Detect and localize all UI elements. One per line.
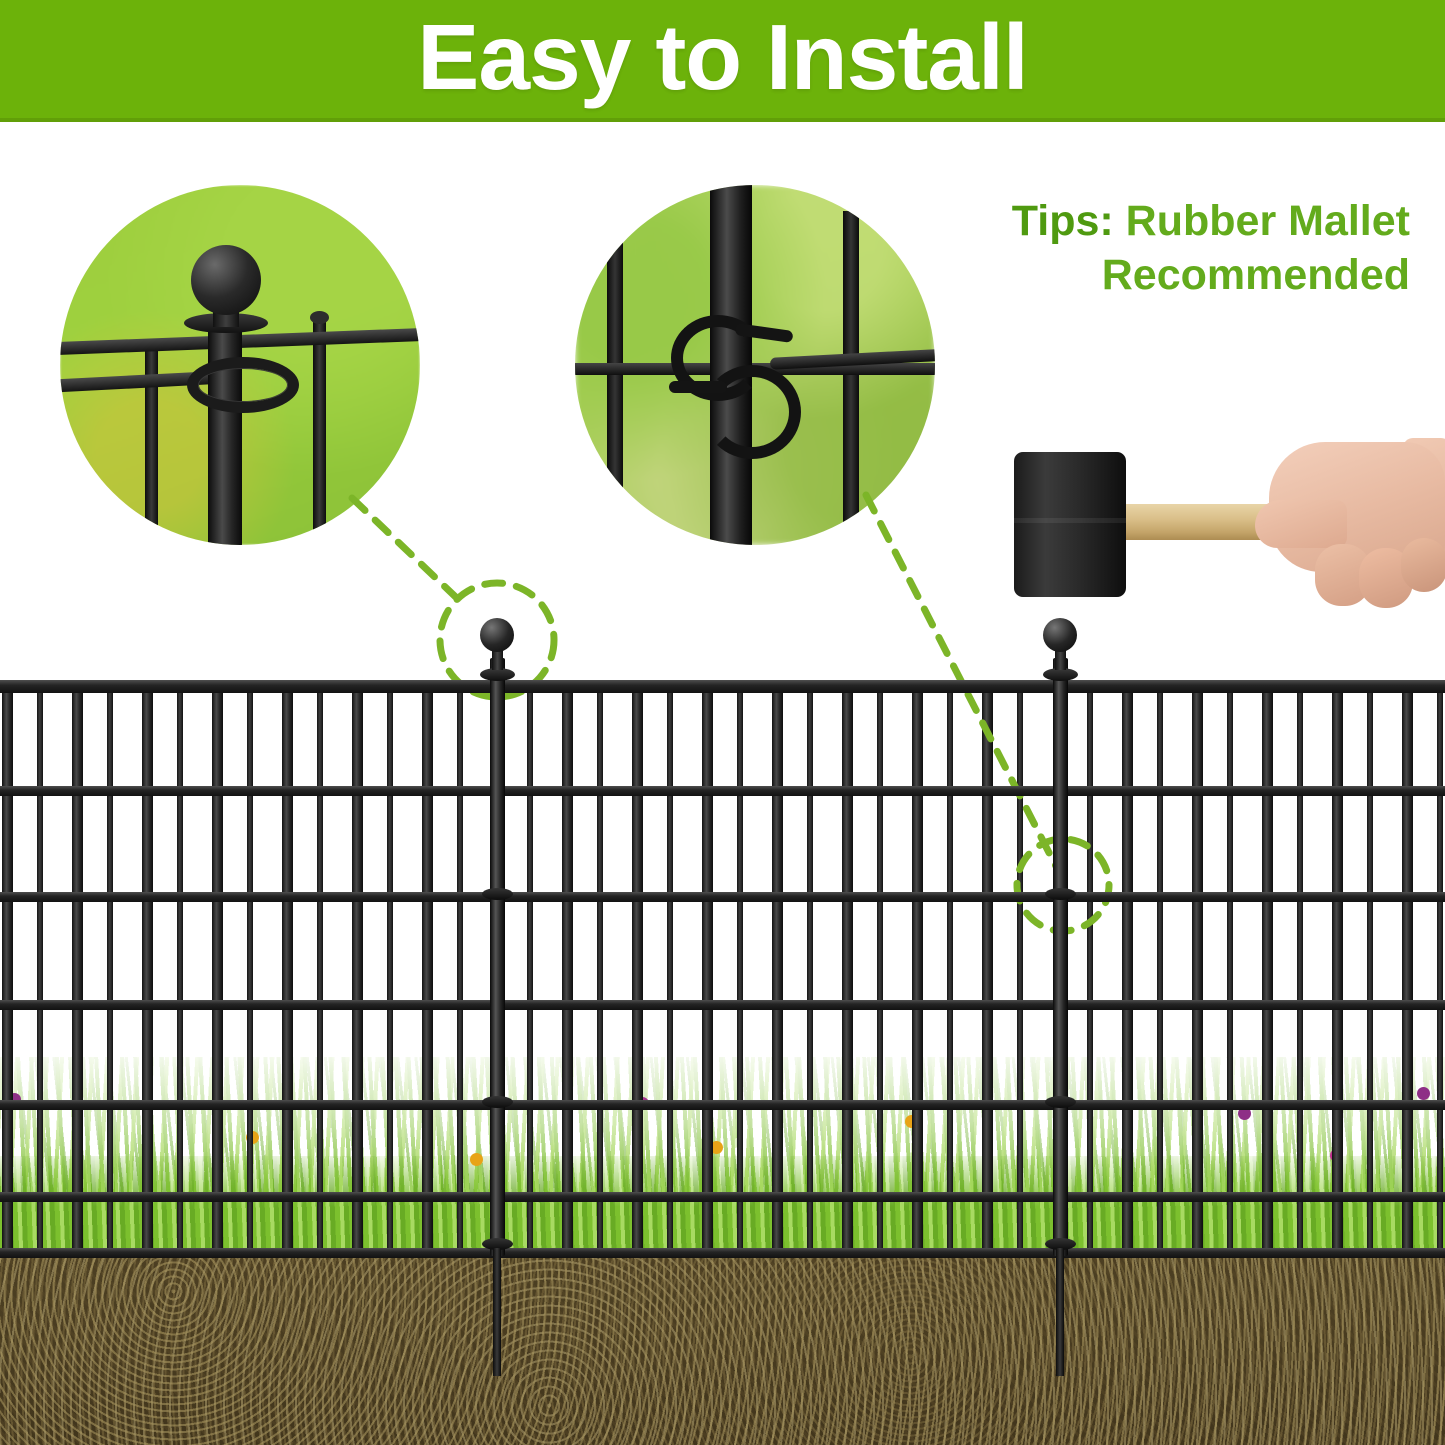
ground-stake — [493, 1248, 501, 1376]
fence-post — [490, 658, 505, 1256]
fence-vertical-bar — [982, 684, 993, 1250]
fence-vertical-bar — [527, 684, 533, 1250]
fence-vertical-bar — [457, 684, 463, 1250]
fence-vertical-bar — [317, 684, 323, 1250]
fence-vertical-bar — [282, 684, 293, 1250]
fence-vertical-bar — [107, 684, 113, 1250]
fence-vertical-bar — [387, 684, 393, 1250]
fence-rail — [0, 1100, 1445, 1110]
fence-vertical-bar — [842, 684, 853, 1250]
fence-rail — [0, 1192, 1445, 1202]
fence-rail — [0, 892, 1445, 902]
ground-stake — [1056, 1248, 1064, 1376]
fence-vertical-bar — [562, 684, 573, 1250]
fence-post — [1053, 658, 1068, 1256]
fence-vertical-bar — [142, 684, 153, 1250]
fence-vertical-bar — [352, 684, 363, 1250]
fence-vertical-bar — [1297, 684, 1303, 1250]
fence-vertical-bar — [877, 684, 883, 1250]
fence-vertical-bar — [772, 684, 783, 1250]
fence-vertical-bar — [597, 684, 603, 1250]
fence-vertical-bar — [1437, 684, 1443, 1250]
fence-vertical-bar — [807, 684, 813, 1250]
fence-vertical-bar — [1087, 684, 1093, 1250]
fence-vertical-bar — [1262, 684, 1273, 1250]
header-banner: Easy to Install — [0, 0, 1445, 122]
fence-vertical-bar — [72, 684, 83, 1250]
fence-rail — [0, 1248, 1445, 1258]
post-connector-clip — [1045, 1096, 1076, 1108]
fence-vertical-bar — [1332, 684, 1343, 1250]
fence-panel-scene — [0, 122, 1445, 1445]
fence-vertical-bar — [247, 684, 253, 1250]
fence-vertical-bar — [1157, 684, 1163, 1250]
fence-vertical-bar — [912, 684, 923, 1250]
fence-vertical-bar — [667, 684, 673, 1250]
wildflower — [1417, 1087, 1430, 1100]
fence-vertical-bar — [1227, 684, 1233, 1250]
soil-layer — [0, 1248, 1445, 1445]
content-stage: Tips: Rubber Mallet Recommended — [0, 122, 1445, 1445]
fence-rail — [0, 1000, 1445, 1010]
fence-rail — [0, 786, 1445, 796]
fence-vertical-bar — [1192, 684, 1203, 1250]
fence-vertical-bar — [37, 684, 43, 1250]
post-connector-clip — [1045, 888, 1076, 900]
fence-vertical-bar — [1402, 684, 1413, 1250]
page-title: Easy to Install — [0, 0, 1445, 118]
post-ball-finial — [1043, 618, 1077, 652]
fence-vertical-bar — [212, 684, 223, 1250]
fence-vertical-bar — [947, 684, 953, 1250]
fence-vertical-bar — [1122, 684, 1133, 1250]
post-ball-finial — [480, 618, 514, 652]
fence-vertical-bar — [737, 684, 743, 1250]
post-connector-clip — [482, 888, 513, 900]
post-connector-clip — [482, 1096, 513, 1108]
fence-vertical-bar — [177, 684, 183, 1250]
fence-vertical-bar — [422, 684, 433, 1250]
fence-vertical-bar — [2, 684, 13, 1250]
fence-vertical-bar — [1017, 684, 1023, 1250]
fence-vertical-bar — [702, 684, 713, 1250]
fence-vertical-bar — [632, 684, 643, 1250]
fence-vertical-bar — [1367, 684, 1373, 1250]
fence-top-rail — [0, 680, 1445, 693]
wildflower — [470, 1153, 483, 1166]
